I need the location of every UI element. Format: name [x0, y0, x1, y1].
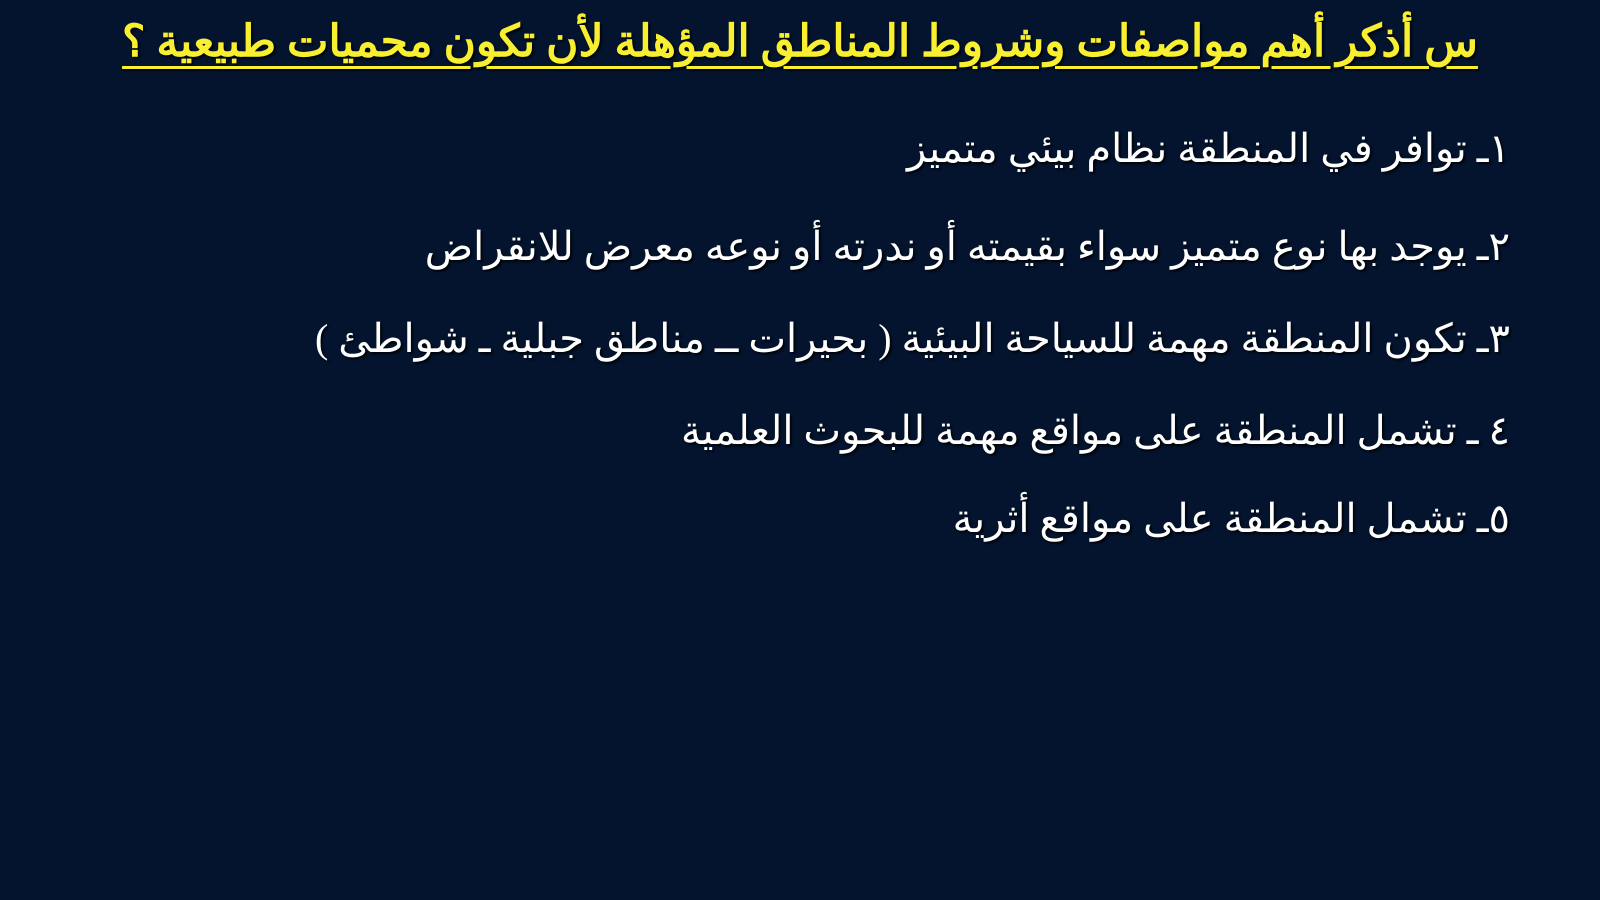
list-item: ٥ـ تشمل المنطقة على مواقع أثرية	[90, 498, 1510, 540]
list-item: ١ـ توافر في المنطقة نظام بيئي متميز	[90, 128, 1510, 170]
list-item: ٢ـ يوجد بها نوع متميز سواء بقيمته أو ندر…	[90, 226, 1510, 268]
page-title: س أذكر أهم مواصفات وشروط المناطق المؤهلة…	[122, 14, 1478, 69]
list-item: ٤ ـ تشمل المنطقة على مواقع مهمة للبحوث ا…	[90, 410, 1510, 452]
slide-canvas: س أذكر أهم مواصفات وشروط المناطق المؤهلة…	[0, 0, 1600, 900]
list-item: ٣ـ تكون المنطقة مهمة للسياحة البيئية ( ب…	[90, 318, 1510, 360]
slide-body-list: ١ـ توافر في المنطقة نظام بيئي متميز ٢ـ ي…	[90, 128, 1510, 540]
slide-title-block: س أذكر أهم مواصفات وشروط المناطق المؤهلة…	[70, 14, 1530, 69]
